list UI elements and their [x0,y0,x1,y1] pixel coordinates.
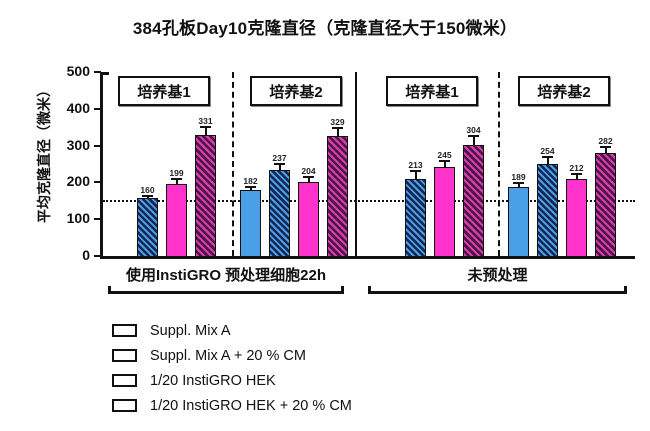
y-tick-label: 400 [48,100,90,116]
error-bar-cap [200,126,211,128]
error-bar-cap [439,160,450,162]
error-bar-cap [542,156,553,158]
bar-value-label: 204 [295,166,323,176]
x-supergroup-label: 使用InstiGRO 预处理细胞22h [100,264,352,285]
error-bar [605,148,607,153]
error-bar-cap [303,176,314,178]
legend-swatch [112,349,137,362]
bar-value-label: 329 [324,117,352,127]
error-bar-cap [410,170,421,172]
legend-item[interactable]: 1/20 InstiGRO HEK + 20 % CM [112,393,352,418]
bar-value-label: 213 [402,160,430,170]
bar-value-label: 182 [237,176,265,186]
plot-area: 1601993311822372043292132453041892542122… [100,72,635,257]
error-bar [444,162,446,167]
y-axis-label-wrapper: 平均克隆直径（微米） [8,70,30,260]
y-tick-label: 100 [48,210,90,226]
error-bar [205,128,207,135]
error-bar [147,197,149,198]
error-bar-cap [142,195,153,197]
error-bar [308,178,310,182]
chart-legend: Suppl. Mix ASuppl. Mix A + 20 % CM1/20 I… [112,318,352,418]
error-bar [176,180,178,184]
error-bar [547,158,549,163]
x-supergroup-bracket [108,286,344,294]
bar-value-label: 245 [431,150,459,160]
y-tick-label: 0 [48,247,90,263]
legend-label: 1/20 InstiGRO HEK [150,373,276,389]
error-bar-cap [468,135,479,137]
legend-item[interactable]: Suppl. Mix A [112,318,352,343]
legend-swatch [112,324,137,337]
legend-item[interactable]: 1/20 InstiGRO HEK [112,368,352,393]
error-bar-cap [513,182,524,184]
bar [166,184,187,257]
bar-value-label: 199 [163,168,191,178]
bar [566,179,587,257]
chart-title: 384孔板Day10克隆直径（克隆直径大于150微米） [0,14,650,39]
error-bar [279,165,281,169]
error-bar [415,172,417,179]
x-supergroup-bracket [368,286,627,294]
bar-value-label: 282 [592,136,620,146]
bar [434,167,455,257]
bar [508,187,529,257]
error-bar [518,184,520,187]
error-bar-cap [571,173,582,175]
bar [298,182,319,257]
bar-value-label: 189 [505,172,533,182]
y-tick-label: 500 [48,63,90,79]
error-bar-cap [245,186,256,188]
bar [327,136,348,257]
bar [405,179,426,257]
legend-item[interactable]: Suppl. Mix A + 20 % CM [112,343,352,368]
bar [137,198,158,257]
bar-value-label: 304 [460,125,488,135]
bar [269,170,290,257]
bar [195,135,216,257]
bar [240,190,261,257]
legend-label: 1/20 InstiGRO HEK + 20 % CM [150,398,352,414]
bar [595,153,616,257]
y-tick-label: 200 [48,173,90,189]
y-tick-label: 300 [48,137,90,153]
chart-container: 384孔板Day10克隆直径（克隆直径大于150微米） 平均克隆直径（微米） 0… [0,0,650,431]
error-bar [473,137,475,145]
error-bar [337,129,339,136]
error-bar-cap [171,178,182,180]
error-bar [576,175,578,179]
error-bar [250,188,252,190]
x-supergroup-label: 未预处理 [360,264,635,285]
bar-value-label: 254 [534,146,562,156]
error-bar-cap [274,163,285,165]
error-bar-cap [332,127,343,129]
bar [463,145,484,257]
legend-swatch [112,374,137,387]
legend-swatch [112,399,137,412]
error-bar-cap [600,146,611,148]
legend-label: Suppl. Mix A + 20 % CM [150,348,306,364]
bar-value-label: 237 [266,153,294,163]
bar-value-label: 212 [563,163,591,173]
bar-value-label: 160 [134,185,162,195]
legend-label: Suppl. Mix A [150,323,231,339]
bar-value-label: 331 [192,116,220,126]
bar [537,164,558,257]
